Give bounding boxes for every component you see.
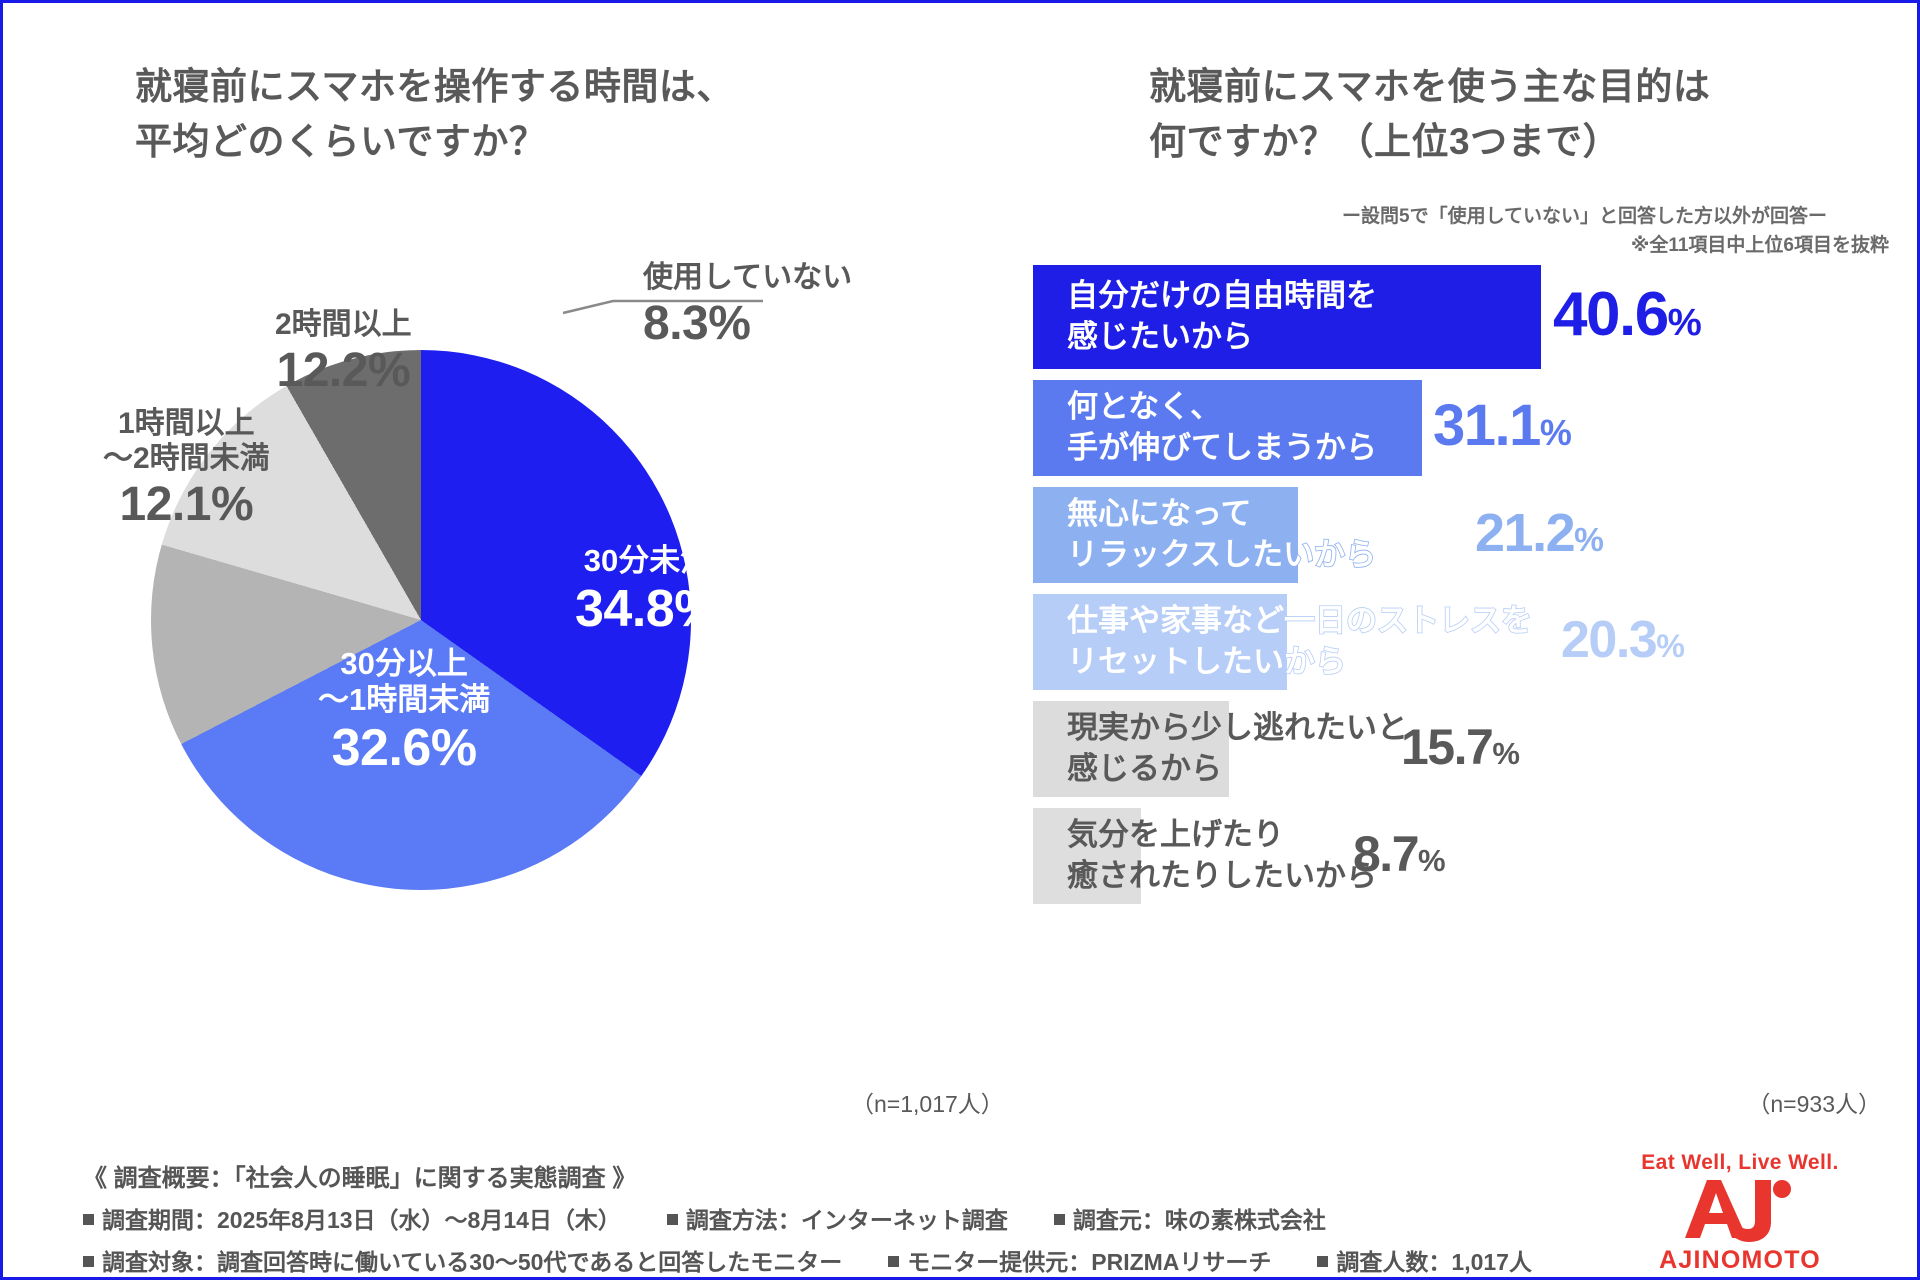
bar-value-percent-sign: % <box>1540 412 1571 453</box>
bar-value-number: 31.1 <box>1433 393 1540 458</box>
pie-label-30min-to-1h-category: 30分以上〜1時間未満 <box>318 646 490 718</box>
bar-chart-title: 就寝前にスマホを使う主な目的は 何ですか？（上位3つまで） <box>1149 60 1710 170</box>
bar-row: 自分だけの自由時間を感じたいから40.6% <box>1033 265 1913 369</box>
footer-meta-item: 調査人数：1,017人 <box>1317 1243 1532 1277</box>
pie-label-unused: 使用していない 8.3% <box>643 261 852 351</box>
bar-label-3: 無心になってリラックスしたいから <box>1033 494 1376 576</box>
bar-value-number: 21.2 <box>1475 503 1574 563</box>
footer-meta-item: 調査方法：インターネット調査 <box>667 1201 1008 1235</box>
pie-label-under-30min: 30分未満 34.8% <box>575 543 720 639</box>
bar-value-1: 40.6% <box>1553 279 1701 350</box>
bar-1: 自分だけの自由時間を感じたいから <box>1033 265 1541 369</box>
bar-value-2: 31.1% <box>1433 392 1571 459</box>
bar-list: 自分だけの自由時間を感じたいから40.6%何となく、手が伸びてしまうから31.1… <box>1033 265 1913 915</box>
bar-label-line1: 自分だけの自由時間を <box>1067 276 1377 317</box>
pie-title-line1: 就寝前にスマホを操作する時間は、 <box>135 60 734 115</box>
bar-label-line1: 気分を上げたり <box>1067 815 1377 856</box>
bar-chart-subnote-2: ※全11項目中上位6項目を抜粋 <box>1631 230 1889 257</box>
pie-label-under-30min-category: 30分未満 <box>575 543 720 579</box>
bar-value-percent-sign: % <box>1656 628 1684 664</box>
bar-label-line1: 仕事や家事など一日のストレスを <box>1067 601 1532 642</box>
bar-label-line1: 現実から少し逃れたいと <box>1067 708 1408 749</box>
pie-label-1h-to-2h: 1時間以上〜2時間未満 12.1% <box>103 407 270 532</box>
bullet-square-icon <box>1317 1256 1328 1267</box>
footer-meta-item: 調査期間：2025年8月13日（水）〜8月14日（木） <box>83 1201 621 1235</box>
bar-label-line2: リセットしたいから <box>1067 642 1532 683</box>
bar-label-1: 自分だけの自由時間を感じたいから <box>1033 276 1377 358</box>
bar-value-percent-sign: % <box>1574 522 1603 559</box>
bar-title-line1: 就寝前にスマホを使う主な目的は <box>1149 60 1710 115</box>
bar-5: 現実から少し逃れたいと感じるから <box>1033 701 1229 797</box>
footer-meta-text: 調査人数：1,017人 <box>1336 1249 1532 1275</box>
bar-4: 仕事や家事など一日のストレスをリセットしたいから <box>1033 594 1287 690</box>
infographic-page: 就寝前にスマホを操作する時間は、 平均どのくらいですか？ 使用していない 8.3… <box>0 0 1920 1280</box>
bar-6: 気分を上げたり癒されたりしたいから <box>1033 808 1141 904</box>
pie-label-1h-to-2h-value: 12.1% <box>103 477 270 533</box>
pie-chart-title: 就寝前にスマホを操作する時間は、 平均どのくらいですか？ <box>135 60 734 170</box>
pie-label-30min-to-1h: 30分以上〜1時間未満 32.6% <box>318 646 490 778</box>
footer-meta-text: 調査対象：調査回答時に働いている30〜50代であると回答したモニター <box>102 1249 842 1275</box>
bar-value-6: 8.7% <box>1353 825 1445 883</box>
pie-label-under-30min-value: 34.8% <box>575 579 720 639</box>
bar-row: 気分を上げたり癒されたりしたいから8.7% <box>1033 808 1913 904</box>
footer-meta-item: モニター提供元：PRIZMAリサーチ <box>888 1243 1271 1277</box>
bar-value-number: 8.7 <box>1353 826 1418 882</box>
bar-label-line2: 感じたいから <box>1067 317 1377 358</box>
bar-2: 何となく、手が伸びてしまうから <box>1033 380 1422 476</box>
bullet-square-icon <box>83 1214 94 1225</box>
bullet-square-icon <box>888 1256 899 1267</box>
bar-label-line1: 無心になって <box>1067 494 1376 535</box>
footer: 《 調査概要：「社会人の睡眠」に関する実態調査 》 調査期間：2025年8月13… <box>3 1143 1920 1280</box>
bar-label-line1: 何となく、 <box>1067 387 1377 428</box>
pie-label-2h-plus-category: 2時間以上 <box>275 308 412 343</box>
bar-value-4: 20.3% <box>1561 610 1684 670</box>
bar-label-line2: 感じるから <box>1067 749 1408 790</box>
bar-value-number: 20.3 <box>1561 611 1656 669</box>
footer-meta-text: 調査方法：インターネット調査 <box>686 1207 1008 1233</box>
ajinomoto-logo: Eat Well, Live Well. AJINOMOTO <box>1615 1151 1865 1273</box>
pie-label-30min-to-1h-value: 32.6% <box>318 718 490 778</box>
bar-label-5: 現実から少し逃れたいと感じるから <box>1033 708 1408 790</box>
bar-value-number: 40.6 <box>1553 280 1668 349</box>
bar-label-4: 仕事や家事など一日のストレスをリセットしたいから <box>1033 601 1532 683</box>
pie-label-unused-category: 使用していない <box>643 261 852 296</box>
pie-title-line2: 平均どのくらいですか？ <box>135 115 734 170</box>
bar-label-line2: 癒されたりしたいから <box>1067 856 1377 897</box>
bar-value-3: 21.2% <box>1475 502 1603 564</box>
bar-chart-subnote-1: ー設問5で「使用していない」と回答した方以外が回答ー <box>1342 201 1827 228</box>
survey-meta-line-2: 調査対象：調査回答時に働いている30〜50代であると回答したモニターモニター提供… <box>83 1243 1532 1277</box>
pie-sample-size: （n=1,017人） <box>851 1085 1004 1119</box>
bullet-square-icon <box>667 1214 678 1225</box>
pie-label-unused-value: 8.3% <box>643 296 852 352</box>
survey-meta-line-1: 調査期間：2025年8月13日（水）〜8月14日（木）調査方法：インターネット調… <box>83 1201 1326 1235</box>
footer-meta-text: 調査元：味の素株式会社 <box>1073 1207 1326 1233</box>
bar-label-2: 何となく、手が伸びてしまうから <box>1033 387 1377 469</box>
pie-label-2h-plus: 2時間以上 12.2% <box>275 308 412 398</box>
bar-label-line2: リラックスしたいから <box>1067 535 1376 576</box>
logo-brand-name: AJINOMOTO <box>1615 1246 1865 1275</box>
footer-meta-text: モニター提供元：PRIZMAリサーチ <box>907 1249 1271 1275</box>
pie-label-2h-plus-value: 12.2% <box>275 343 412 399</box>
bar-row: 何となく、手が伸びてしまうから31.1% <box>1033 380 1913 476</box>
bar-value-percent-sign: % <box>1492 736 1519 771</box>
bar-3: 無心になってリラックスしたいから <box>1033 487 1298 583</box>
bullet-square-icon <box>83 1256 94 1267</box>
bar-row: 仕事や家事など一日のストレスをリセットしたいから20.3% <box>1033 594 1913 690</box>
bar-label-line2: 手が伸びてしまうから <box>1067 428 1377 469</box>
survey-overview-heading: 《 調査概要：「社会人の睡眠」に関する実態調査 》 <box>83 1158 636 1193</box>
bar-row: 無心になってリラックスしたいから21.2% <box>1033 487 1913 583</box>
footer-meta-item: 調査元：味の素株式会社 <box>1054 1201 1326 1235</box>
bar-title-line2: 何ですか？（上位3つまで） <box>1149 115 1710 170</box>
footer-meta-text: 調査期間：2025年8月13日（水）〜8月14日（木） <box>102 1207 621 1233</box>
bullet-square-icon <box>1054 1214 1065 1225</box>
bar-value-5: 15.7% <box>1401 718 1519 776</box>
bar-label-6: 気分を上げたり癒されたりしたいから <box>1033 815 1377 897</box>
pie-label-1h-to-2h-category: 1時間以上〜2時間未満 <box>103 407 270 477</box>
bar-row: 現実から少し逃れたいと感じるから15.7% <box>1033 701 1913 797</box>
bar-value-percent-sign: % <box>1418 843 1445 878</box>
ajinomoto-aji-mark-icon <box>1615 1176 1865 1246</box>
bar-sample-size: （n=933人） <box>1747 1085 1881 1119</box>
pie-chart-panel: 就寝前にスマホを操作する時間は、 平均どのくらいですか？ 使用していない 8.3… <box>3 3 1013 1143</box>
bar-value-percent-sign: % <box>1668 301 1701 344</box>
bar-value-number: 15.7 <box>1401 719 1492 775</box>
footer-meta-item: 調査対象：調査回答時に働いている30〜50代であると回答したモニター <box>83 1243 842 1277</box>
logo-tagline: Eat Well, Live Well. <box>1615 1151 1865 1175</box>
